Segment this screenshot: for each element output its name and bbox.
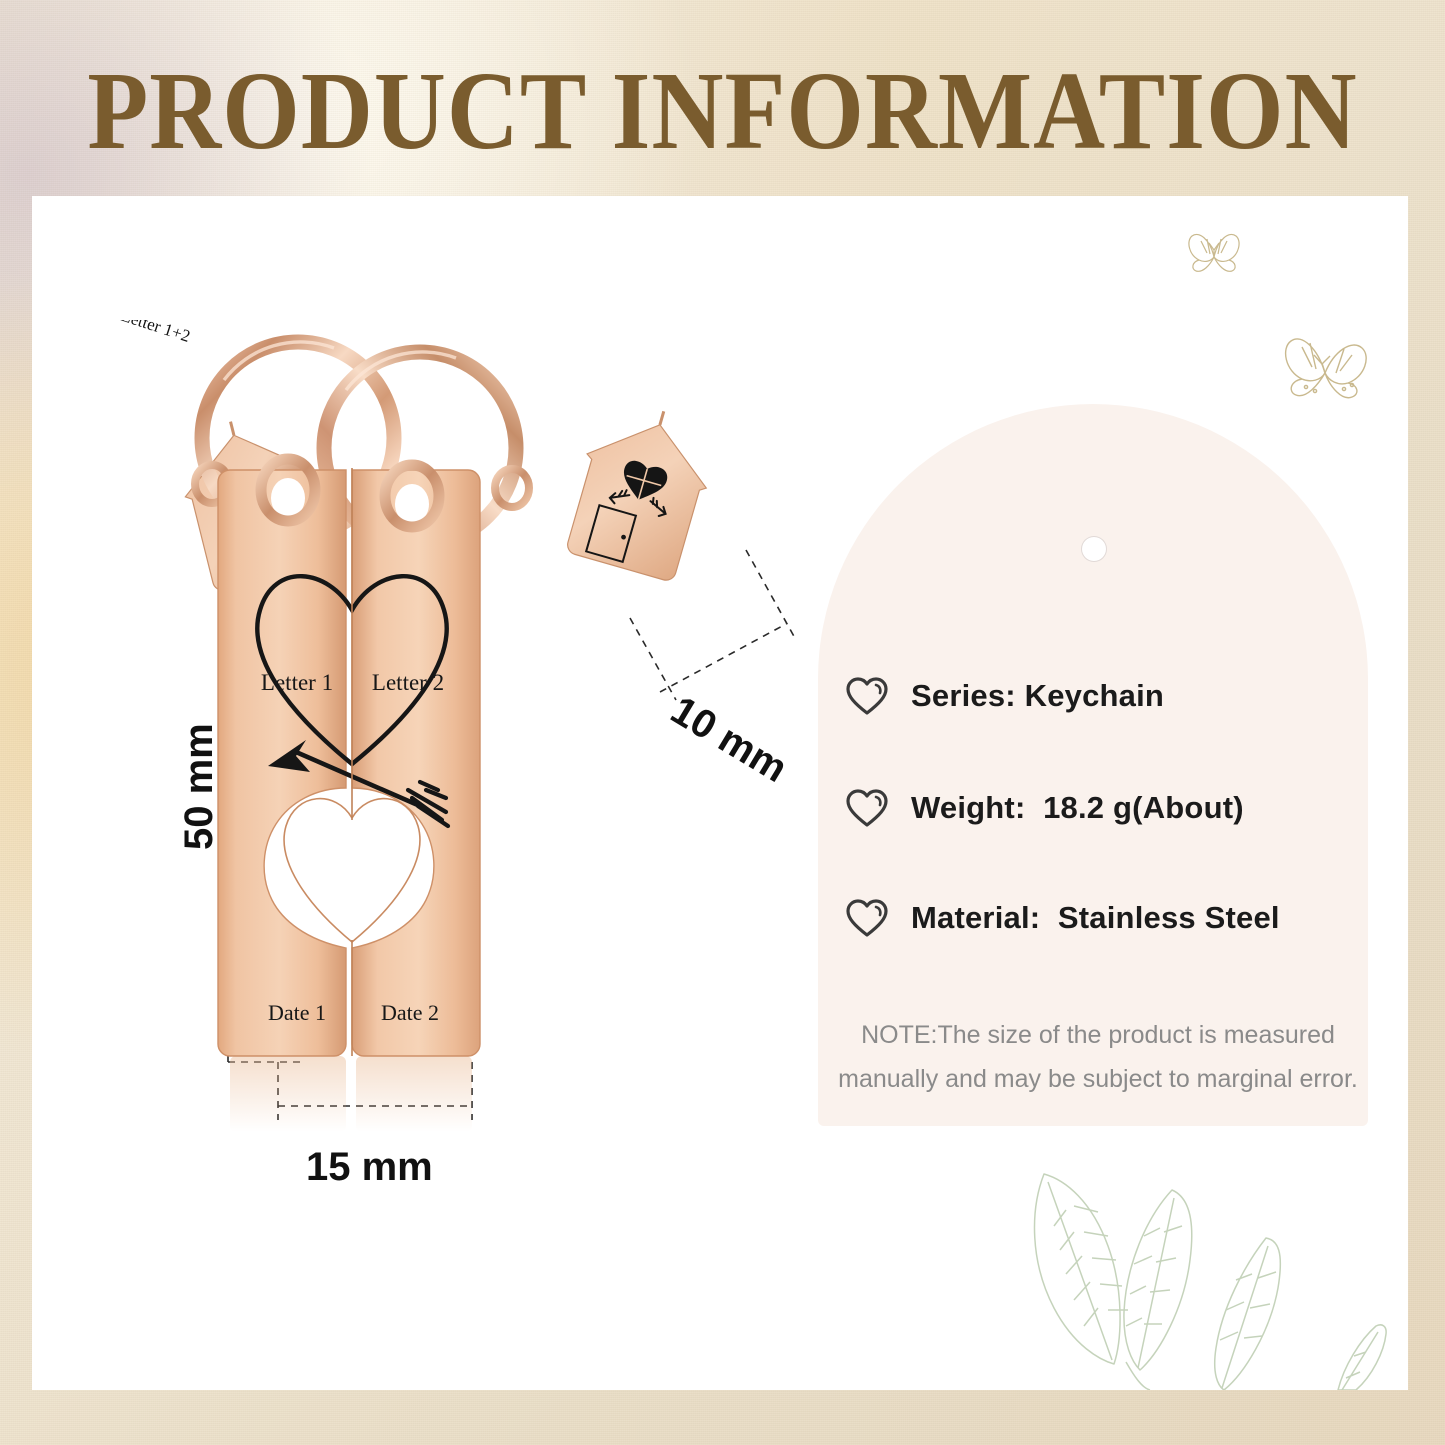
dimension-charm-label: 10 mm — [663, 688, 794, 791]
dimension-width-label: 15 mm — [306, 1145, 433, 1189]
note-text: NOTE:The size of the product is measured… — [838, 1014, 1358, 1102]
heart-icon — [845, 788, 889, 828]
bar-right-letter: Letter 2 — [372, 670, 444, 695]
bar-right-date: Date 2 — [381, 1000, 439, 1025]
leaf-decoration — [1004, 1140, 1408, 1390]
butterfly-icon — [1278, 325, 1374, 409]
bar-left-date: Date 1 — [268, 1000, 326, 1025]
content-panel: Series: Keychain Weight: 18.2 g(About) M… — [32, 196, 1408, 1390]
heart-icon — [845, 898, 889, 938]
heart-icon — [845, 676, 889, 716]
tag-punch-hole-icon — [1081, 536, 1107, 562]
charm-left-engraving: Letter 1+2 — [120, 320, 193, 346]
house-charm-right — [560, 394, 724, 584]
product-photo: Letter 1+2 Letter 1+2 — [120, 320, 820, 1240]
spec-label: Series: Keychain — [911, 678, 1164, 714]
page-title: PRODUCT INFORMATION — [0, 56, 1445, 167]
spec-row-material: Material: Stainless Steel — [845, 898, 1280, 938]
product-information-page: PRODUCT INFORMATION — [0, 0, 1445, 1445]
spec-row-weight: Weight: 18.2 g(About) — [845, 788, 1244, 828]
engraved-bar-right — [352, 470, 480, 1056]
note-line-2: manually and may be subject to marginal … — [838, 1058, 1358, 1102]
bar-left-letter: Letter 1 — [261, 670, 333, 695]
spec-label: Weight: 18.2 g(About) — [911, 790, 1244, 826]
butterfly-icon — [1183, 227, 1245, 279]
spec-row-series: Series: Keychain — [845, 676, 1164, 716]
note-line-1: NOTE:The size of the product is measured — [838, 1014, 1358, 1058]
product-reflection — [230, 1056, 472, 1132]
dimension-height-label: 50 mm — [177, 723, 221, 850]
heart-cutout — [284, 799, 420, 942]
spec-label: Material: Stainless Steel — [911, 900, 1280, 936]
